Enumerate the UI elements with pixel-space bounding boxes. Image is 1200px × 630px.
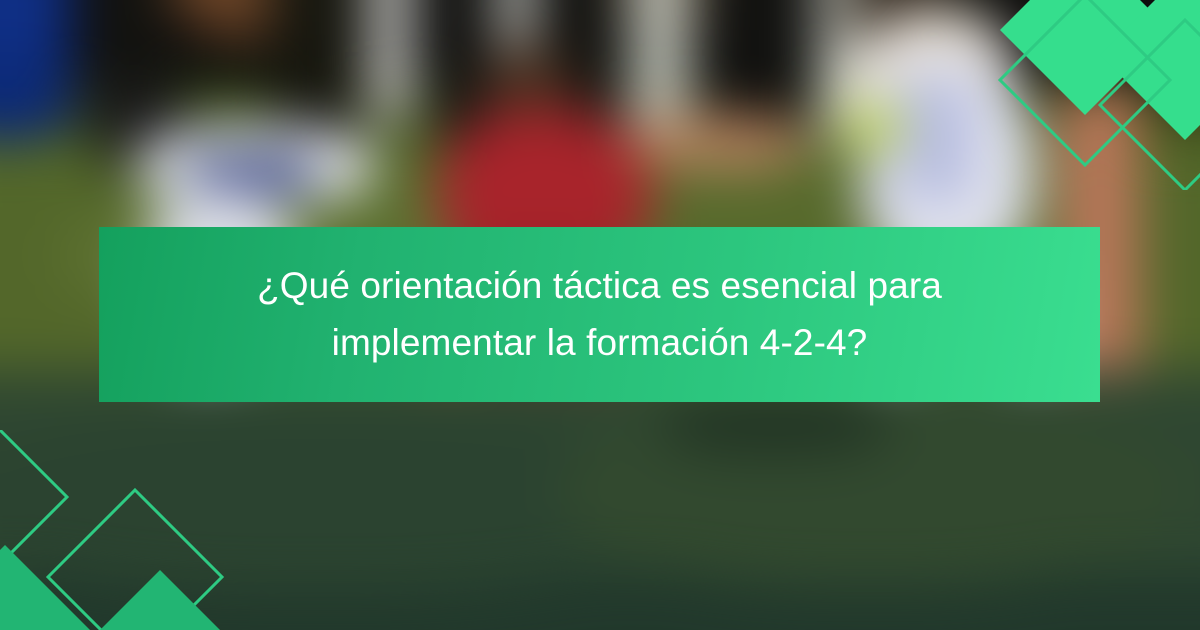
question-banner: ¿Qué orientación táctica es esencial par… bbox=[99, 227, 1100, 402]
share-card: ¿Qué orientación táctica es esencial par… bbox=[0, 0, 1200, 630]
question-text: ¿Qué orientación táctica es esencial par… bbox=[230, 258, 970, 370]
